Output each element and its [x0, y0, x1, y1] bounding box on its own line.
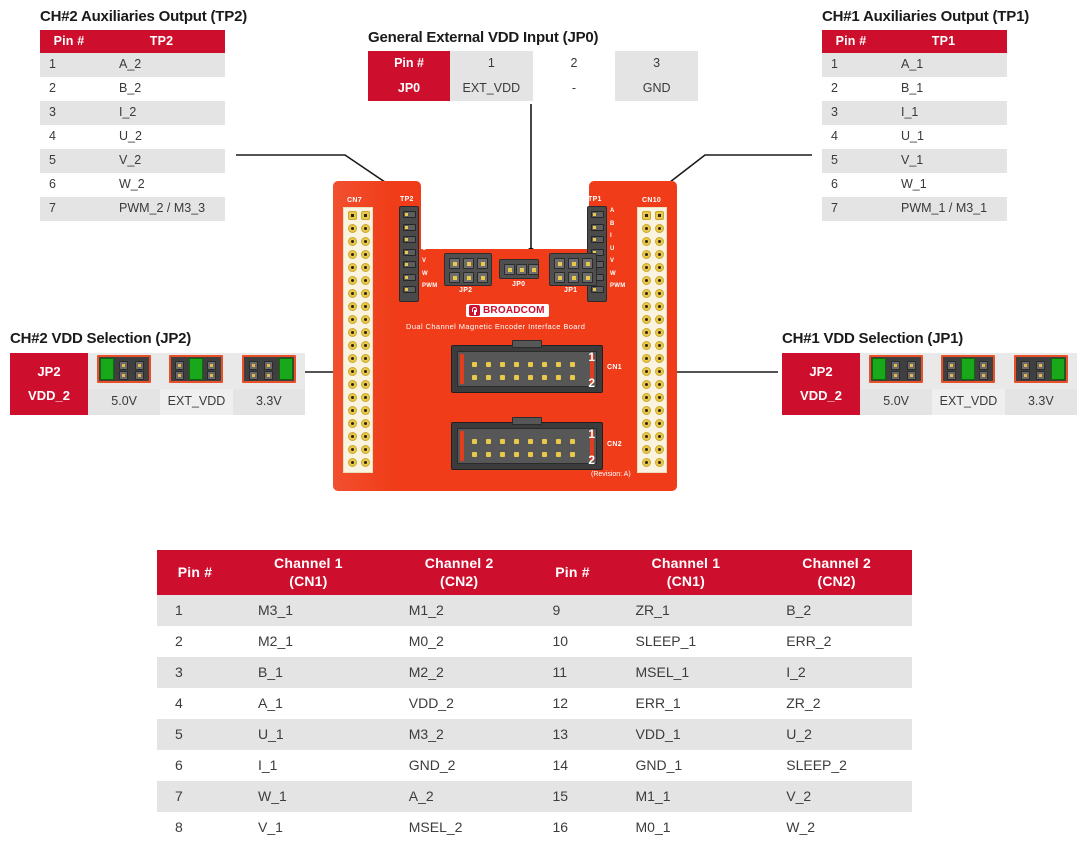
- idc-pin: [486, 362, 491, 367]
- idc-pin: [472, 375, 477, 380]
- testpoint-pin: [591, 211, 604, 218]
- through-hole-pad: [655, 250, 664, 259]
- cell-pin-right: 11: [535, 657, 611, 688]
- jp2-table: JP2 VDD_2: [10, 353, 305, 415]
- silk-tp-pin-label: U: [422, 246, 427, 252]
- through-hole-pad: [655, 419, 664, 428]
- jp2-label-bottom: VDD_2: [10, 389, 88, 403]
- idc-pin: [472, 452, 477, 457]
- through-hole-pad: [361, 354, 370, 363]
- through-hole-pad: [642, 302, 651, 311]
- cell-pin-right: 12: [535, 688, 611, 719]
- cell-signal: U_2: [98, 125, 225, 149]
- cn1-cn2-pinout-table: Pin # Channel 1 (CN1) Channel 2 (CN2) Pi…: [157, 550, 912, 843]
- cell-ch2-right: ERR_2: [761, 626, 912, 657]
- cell-pin: 7: [40, 197, 98, 221]
- cell-pin: 2: [822, 77, 880, 101]
- silk-tp-pin-label: V: [422, 258, 426, 264]
- cell-signal: I_2: [98, 101, 225, 125]
- cell-pin: 1: [822, 53, 880, 77]
- pinout-header-pin-left: Pin #: [157, 550, 233, 595]
- through-hole-pad: [642, 250, 651, 259]
- through-hole-pad: [655, 289, 664, 298]
- cell-ch1-left: M3_1: [233, 595, 384, 626]
- through-hole-pad: [642, 380, 651, 389]
- table-row: 2M2_1M0_210SLEEP_1ERR_2: [157, 626, 912, 657]
- jumper-pin: [568, 272, 579, 283]
- through-hole-pad: [642, 328, 651, 337]
- table-row: 7PWM_2 / M3_3: [40, 197, 225, 221]
- through-hole-pad: [348, 315, 357, 324]
- table-row: 3I_2: [40, 101, 225, 125]
- silk-tp-pin-label: W: [422, 271, 428, 277]
- jp1-caption: CH#1 VDD Selection (JP1): [782, 330, 1077, 347]
- through-hole-pad: [655, 406, 664, 415]
- cell-ch2-right: SLEEP_2: [761, 750, 912, 781]
- table-row: 4U_1: [822, 125, 1007, 149]
- cn1-key-notch: [512, 340, 542, 348]
- idc-pin: [528, 375, 533, 380]
- connector-cn10: [637, 207, 667, 473]
- through-hole-pad: [655, 263, 664, 272]
- silk-jp2: JP2: [459, 287, 472, 294]
- through-hole-pad: [348, 276, 357, 285]
- idc-pin: [570, 362, 575, 367]
- connector-cn7: [343, 207, 373, 473]
- idc-pin: [514, 452, 519, 457]
- cell-pin-left: 2: [157, 626, 233, 657]
- cell-ch2-left: M0_2: [384, 626, 535, 657]
- pinout-header-ch2-left: Channel 2 (CN2): [384, 550, 535, 595]
- cell-ch2-right: ZR_2: [761, 688, 912, 719]
- jp2-option-extvdd-image: [160, 353, 232, 389]
- pcb-board-illustration: CN7 CN10 TP2 ABIUVWPWM TP1 ABIUVWPWM JP2…: [333, 181, 677, 491]
- cell-pin-left: 7: [157, 781, 233, 812]
- table-header-row: Pin # TP2: [40, 30, 225, 53]
- testpoint-header-tp2: [399, 206, 419, 302]
- through-hole-pad: [361, 224, 370, 233]
- cell-pin: 1: [40, 53, 98, 77]
- cell-ch1-right: M0_1: [611, 812, 762, 843]
- cell-pin-right: 14: [535, 750, 611, 781]
- table-row: 5U_1M3_213VDD_1U_2: [157, 719, 912, 750]
- through-hole-pad: [655, 393, 664, 402]
- jp0-pin-1: 1: [450, 51, 533, 76]
- broadcom-wordmark: BROADCOM: [483, 305, 545, 316]
- jp2-row-label: JP2 VDD_2: [10, 353, 88, 415]
- silk-cn7: CN7: [347, 197, 362, 204]
- cell-pin-left: 4: [157, 688, 233, 719]
- through-hole-pad: [348, 432, 357, 441]
- cell-ch2-right: W_2: [761, 812, 912, 843]
- idc-pin: [570, 375, 575, 380]
- through-hole-pad: [348, 393, 357, 402]
- jp2-option-5v-label: 5.0V: [88, 389, 160, 415]
- cell-signal: I_1: [880, 101, 1007, 125]
- idc-pin: [500, 362, 505, 367]
- cell-ch2-left: MSEL_2: [384, 812, 535, 843]
- cell-pin-left: 8: [157, 812, 233, 843]
- through-hole-pad: [642, 263, 651, 272]
- jumper-icon-right: [1014, 355, 1068, 383]
- through-hole-pad: [348, 250, 357, 259]
- cell-ch1-right: VDD_1: [611, 719, 762, 750]
- silk-tp-pin-label: B: [422, 221, 427, 227]
- silk-jp0: JP0: [512, 281, 525, 288]
- through-hole-pad: [348, 341, 357, 350]
- pinout-header-ch1-left: Channel 1 (CN1): [233, 550, 384, 595]
- jp0-value-1: EXT_VDD: [450, 76, 533, 101]
- jumper-pin: [568, 258, 579, 269]
- through-hole-pad: [348, 445, 357, 454]
- through-hole-pad: [361, 315, 370, 324]
- idc-pin: [556, 439, 561, 444]
- jumper-pin: [504, 264, 515, 275]
- testpoint-pin: [403, 261, 416, 268]
- jumper-icon-middle: [941, 355, 995, 383]
- through-hole-pad: [348, 211, 357, 220]
- jp0-table: Pin # 1 2 3 JP0 EXT_VDD - GND: [368, 51, 698, 101]
- through-hole-pad: [348, 263, 357, 272]
- through-hole-pad: [361, 276, 370, 285]
- cell-ch1-right: GND_1: [611, 750, 762, 781]
- through-hole-pad: [655, 315, 664, 324]
- cell-pin: 3: [822, 101, 880, 125]
- cell-pin-right: 15: [535, 781, 611, 812]
- through-hole-pad: [361, 367, 370, 376]
- through-hole-pad: [642, 341, 651, 350]
- jp0-value-3: GND: [615, 76, 698, 101]
- cell-ch1-left: B_1: [233, 657, 384, 688]
- jumper-pin: [554, 258, 565, 269]
- idc-pin: [472, 439, 477, 444]
- table-row: 3B_1M2_211MSEL_1I_2: [157, 657, 912, 688]
- through-hole-pad: [642, 367, 651, 376]
- through-hole-pad: [361, 393, 370, 402]
- cell-pin: 7: [822, 197, 880, 221]
- cn2-pin1-marker: [460, 431, 464, 461]
- through-hole-pad: [361, 302, 370, 311]
- through-hole-pad: [655, 458, 664, 467]
- jp2-option-3v3-label: 3.3V: [233, 389, 305, 415]
- through-hole-pad: [642, 419, 651, 428]
- idc-pin: [514, 375, 519, 380]
- testpoint-pin: [403, 286, 416, 293]
- jp2-option-extvdd-label: EXT_VDD: [160, 389, 232, 415]
- idc-pin: [556, 375, 561, 380]
- through-hole-pad: [348, 380, 357, 389]
- jp2-jumper-row: JP2 VDD_2: [10, 353, 305, 389]
- through-hole-pad: [642, 393, 651, 402]
- testpoint-pin: [403, 236, 416, 243]
- cell-ch1-right: MSEL_1: [611, 657, 762, 688]
- pcb-board: CN7 CN10 TP2 ABIUVWPWM TP1 ABIUVWPWM JP2…: [333, 181, 677, 491]
- jumper-pin: [582, 272, 593, 283]
- through-hole-pad: [348, 328, 357, 337]
- through-hole-pad: [642, 289, 651, 298]
- jp0-callout: General External VDD Input (JP0) Pin # 1…: [368, 29, 698, 101]
- through-hole-pad: [348, 224, 357, 233]
- idc-pin: [500, 439, 505, 444]
- cell-pin: 6: [40, 173, 98, 197]
- tp1-header-tp1: TP1: [880, 30, 1007, 53]
- cell-signal: A_2: [98, 53, 225, 77]
- jp1-option-5v-image: [860, 353, 932, 389]
- through-hole-pad: [655, 302, 664, 311]
- cell-signal: PWM_1 / M3_1: [880, 197, 1007, 221]
- connector-cn2: 1 2: [451, 422, 603, 470]
- through-hole-pad: [361, 289, 370, 298]
- jp0-row-label: JP0: [368, 76, 450, 101]
- cell-pin-right: 10: [535, 626, 611, 657]
- through-hole-pad: [642, 276, 651, 285]
- silk-tp-pin-label: A: [422, 208, 427, 214]
- tp1-caption: CH#1 Auxiliaries Output (TP1): [822, 8, 1029, 25]
- through-hole-pad: [642, 237, 651, 246]
- table-row: 6W_2: [40, 173, 225, 197]
- jp1-vdd-selection-callout: CH#1 VDD Selection (JP1) JP2 VDD_2: [782, 330, 1077, 415]
- through-hole-pad: [348, 302, 357, 311]
- silk-jp1: JP1: [564, 287, 577, 294]
- jp0-caption: General External VDD Input (JP0): [368, 29, 698, 46]
- silk-tp2: TP2: [400, 196, 414, 203]
- through-hole-pad: [361, 211, 370, 220]
- cell-signal: U_1: [880, 125, 1007, 149]
- idc-pin: [486, 452, 491, 457]
- cn1-cn2-pinout-callout: Pin # Channel 1 (CN1) Channel 2 (CN2) Pi…: [157, 550, 912, 843]
- jp1-option-3v3-image: [1005, 353, 1077, 389]
- connector-cn1: 1 2: [451, 345, 603, 393]
- silk-tp-pin-label: W: [610, 271, 616, 277]
- cell-ch1-right: M1_1: [611, 781, 762, 812]
- cn2-key-notch: [512, 417, 542, 425]
- cell-ch1-left: I_1: [233, 750, 384, 781]
- jumper-icon-left: [869, 355, 923, 383]
- jp1-label-bottom: VDD_2: [782, 389, 860, 403]
- through-hole-pad: [348, 419, 357, 428]
- cell-ch2-left: M1_2: [384, 595, 535, 626]
- cell-pin: 4: [822, 125, 880, 149]
- cell-signal: PWM_2 / M3_3: [98, 197, 225, 221]
- cn1-pin-1-number: 1: [588, 350, 595, 364]
- jp1-option-5v-label: 5.0V: [860, 389, 932, 415]
- silk-tp-pin-label: U: [610, 246, 615, 252]
- through-hole-pad: [655, 276, 664, 285]
- through-hole-pad: [655, 367, 664, 376]
- table-row: 2B_1: [822, 77, 1007, 101]
- table-row: 5V_2: [40, 149, 225, 173]
- cell-ch1-left: M2_1: [233, 626, 384, 657]
- table-row: 1M3_1M1_29ZR_1B_2: [157, 595, 912, 626]
- idc-pin: [500, 375, 505, 380]
- idc-pin: [542, 452, 547, 457]
- silk-cn2: CN2: [607, 441, 622, 448]
- jp0-pin-label: Pin #: [368, 51, 450, 76]
- pinout-header-ch1-right: Channel 1 (CN1): [611, 550, 762, 595]
- jumper-pin: [528, 264, 539, 275]
- idc-pin: [528, 452, 533, 457]
- jp0-pin-3: 3: [615, 51, 698, 76]
- through-hole-pad: [361, 328, 370, 337]
- through-hole-pad: [642, 224, 651, 233]
- silk-tp1: TP1: [588, 196, 602, 203]
- through-hole-pad: [361, 380, 370, 389]
- cell-ch1-right: ZR_1: [611, 595, 762, 626]
- cell-signal: B_2: [98, 77, 225, 101]
- cell-pin-right: 16: [535, 812, 611, 843]
- jp2-vdd-selection-callout: CH#2 VDD Selection (JP2) JP2 VDD_2: [10, 330, 305, 415]
- idc-pin: [472, 362, 477, 367]
- jp0-pin-row: Pin # 1 2 3: [368, 51, 698, 76]
- tp2-callout: CH#2 Auxiliaries Output (TP2) Pin # TP2 …: [40, 8, 247, 221]
- cell-pin-right: 9: [535, 595, 611, 626]
- through-hole-pad: [642, 354, 651, 363]
- jumper-icon-left: [97, 355, 151, 383]
- cn2-pin-2-number: 2: [588, 453, 595, 467]
- through-hole-pad: [361, 432, 370, 441]
- jumper-pin: [463, 272, 474, 283]
- tp2-header-pin: Pin #: [40, 30, 98, 53]
- testpoint-pin: [403, 274, 416, 281]
- jumper-icon-middle: [169, 355, 223, 383]
- board-tagline: Dual Channel Magnetic Encoder Interface …: [406, 322, 585, 331]
- through-hole-pad: [655, 432, 664, 441]
- testpoint-pin: [591, 236, 604, 243]
- tp1-header-pin: Pin #: [822, 30, 880, 53]
- jp1-option-extvdd-image: [932, 353, 1004, 389]
- jp2-caption: CH#2 VDD Selection (JP2): [10, 330, 305, 347]
- cell-signal: B_1: [880, 77, 1007, 101]
- tp2-caption: CH#2 Auxiliaries Output (TP2): [40, 8, 247, 25]
- table-row: 2B_2: [40, 77, 225, 101]
- silk-tp-pin-label: PWM: [610, 283, 626, 289]
- cell-ch2-left: VDD_2: [384, 688, 535, 719]
- testpoint-pin: [591, 286, 604, 293]
- idc-pin: [570, 439, 575, 444]
- table-row: 1A_1: [822, 53, 1007, 77]
- jp1-label-top: JP2: [782, 365, 860, 379]
- cell-pin: 6: [822, 173, 880, 197]
- testpoint-pin: [591, 224, 604, 231]
- jp2-option-3v3-image: [233, 353, 305, 389]
- cell-ch1-left: A_1: [233, 688, 384, 719]
- through-hole-pad: [348, 289, 357, 298]
- cell-pin-left: 6: [157, 750, 233, 781]
- cell-ch2-right: V_2: [761, 781, 912, 812]
- cell-signal: W_2: [98, 173, 225, 197]
- cell-ch2-right: U_2: [761, 719, 912, 750]
- idc-pin: [528, 439, 533, 444]
- broadcom-mark-icon: [469, 305, 480, 316]
- jp1-option-extvdd-label: EXT_VDD: [932, 389, 1004, 415]
- jumper-pin: [582, 258, 593, 269]
- idc-pin: [542, 375, 547, 380]
- table-row: 8V_1MSEL_216M0_1W_2: [157, 812, 912, 843]
- silk-tp-pin-label: I: [610, 233, 612, 239]
- table-row: 7PWM_1 / M3_1: [822, 197, 1007, 221]
- through-hole-pad: [642, 432, 651, 441]
- idc-pin: [514, 362, 519, 367]
- cell-signal: W_1: [880, 173, 1007, 197]
- jumper-header-jp1: [549, 253, 597, 286]
- through-hole-pad: [361, 445, 370, 454]
- jumper-pin: [554, 272, 565, 283]
- cell-ch2-left: M2_2: [384, 657, 535, 688]
- idc-pin: [570, 452, 575, 457]
- through-hole-pad: [361, 250, 370, 259]
- silk-tp-pin-label: I: [422, 233, 424, 239]
- through-hole-pad: [642, 315, 651, 324]
- cell-ch1-left: U_1: [233, 719, 384, 750]
- tp2-header-tp2: TP2: [98, 30, 225, 53]
- through-hole-pad: [655, 445, 664, 454]
- cn2-pin-1-number: 1: [588, 427, 595, 441]
- table-header-row: Pin # TP1: [822, 30, 1007, 53]
- idc-pin: [486, 375, 491, 380]
- jumper-pin: [477, 272, 488, 283]
- jp0-value-row: JP0 EXT_VDD - GND: [368, 76, 698, 101]
- idc-pin: [486, 439, 491, 444]
- cell-ch2-left: A_2: [384, 781, 535, 812]
- table-row: 4U_2: [40, 125, 225, 149]
- table-header-row: Pin # Channel 1 (CN1) Channel 2 (CN2) Pi…: [157, 550, 912, 595]
- idc-pin: [514, 439, 519, 444]
- table-row: 7W_1A_215M1_1V_2: [157, 781, 912, 812]
- cell-ch1-right: ERR_1: [611, 688, 762, 719]
- cell-signal: V_2: [98, 149, 225, 173]
- idc-pin: [542, 362, 547, 367]
- testpoint-pin: [403, 224, 416, 231]
- jumper-pin: [477, 258, 488, 269]
- silk-tp-pin-label: V: [610, 258, 614, 264]
- jp0-value-2: -: [533, 76, 616, 101]
- cell-ch1-right: SLEEP_1: [611, 626, 762, 657]
- through-hole-pad: [642, 406, 651, 415]
- testpoint-pin: [403, 249, 416, 256]
- silk-tp-pin-label: B: [610, 221, 615, 227]
- broadcom-logo: BROADCOM: [466, 304, 549, 317]
- cell-ch2-left: M3_2: [384, 719, 535, 750]
- idc-pin: [556, 362, 561, 367]
- table-row: 6W_1: [822, 173, 1007, 197]
- silk-cn10: CN10: [642, 197, 661, 204]
- jp1-jumper-row: JP2 VDD_2: [782, 353, 1077, 389]
- through-hole-pad: [348, 458, 357, 467]
- cell-signal: A_1: [880, 53, 1007, 77]
- through-hole-pad: [361, 341, 370, 350]
- through-hole-pad: [655, 211, 664, 220]
- jp0-pin-2: 2: [533, 51, 616, 76]
- table-row: 1A_2: [40, 53, 225, 77]
- through-hole-pad: [361, 237, 370, 246]
- through-hole-pad: [642, 458, 651, 467]
- jumper-pin: [516, 264, 527, 275]
- jumper-header-jp2: [444, 253, 492, 286]
- jp2-label-top: JP2: [10, 365, 88, 379]
- tp1-table: Pin # TP1 1A_1 2B_1 3I_1 4U_1 5V_1 6W_1 …: [822, 30, 1007, 221]
- through-hole-pad: [655, 341, 664, 350]
- through-hole-pad: [348, 367, 357, 376]
- jp1-table: JP2 VDD_2: [782, 353, 1077, 415]
- jumper-pin: [463, 258, 474, 269]
- idc-pin: [542, 439, 547, 444]
- cell-pin: 4: [40, 125, 98, 149]
- cell-pin: 3: [40, 101, 98, 125]
- jp2-option-5v-image: [88, 353, 160, 389]
- cell-ch2-left: GND_2: [384, 750, 535, 781]
- through-hole-pad: [361, 263, 370, 272]
- cell-pin-left: 1: [157, 595, 233, 626]
